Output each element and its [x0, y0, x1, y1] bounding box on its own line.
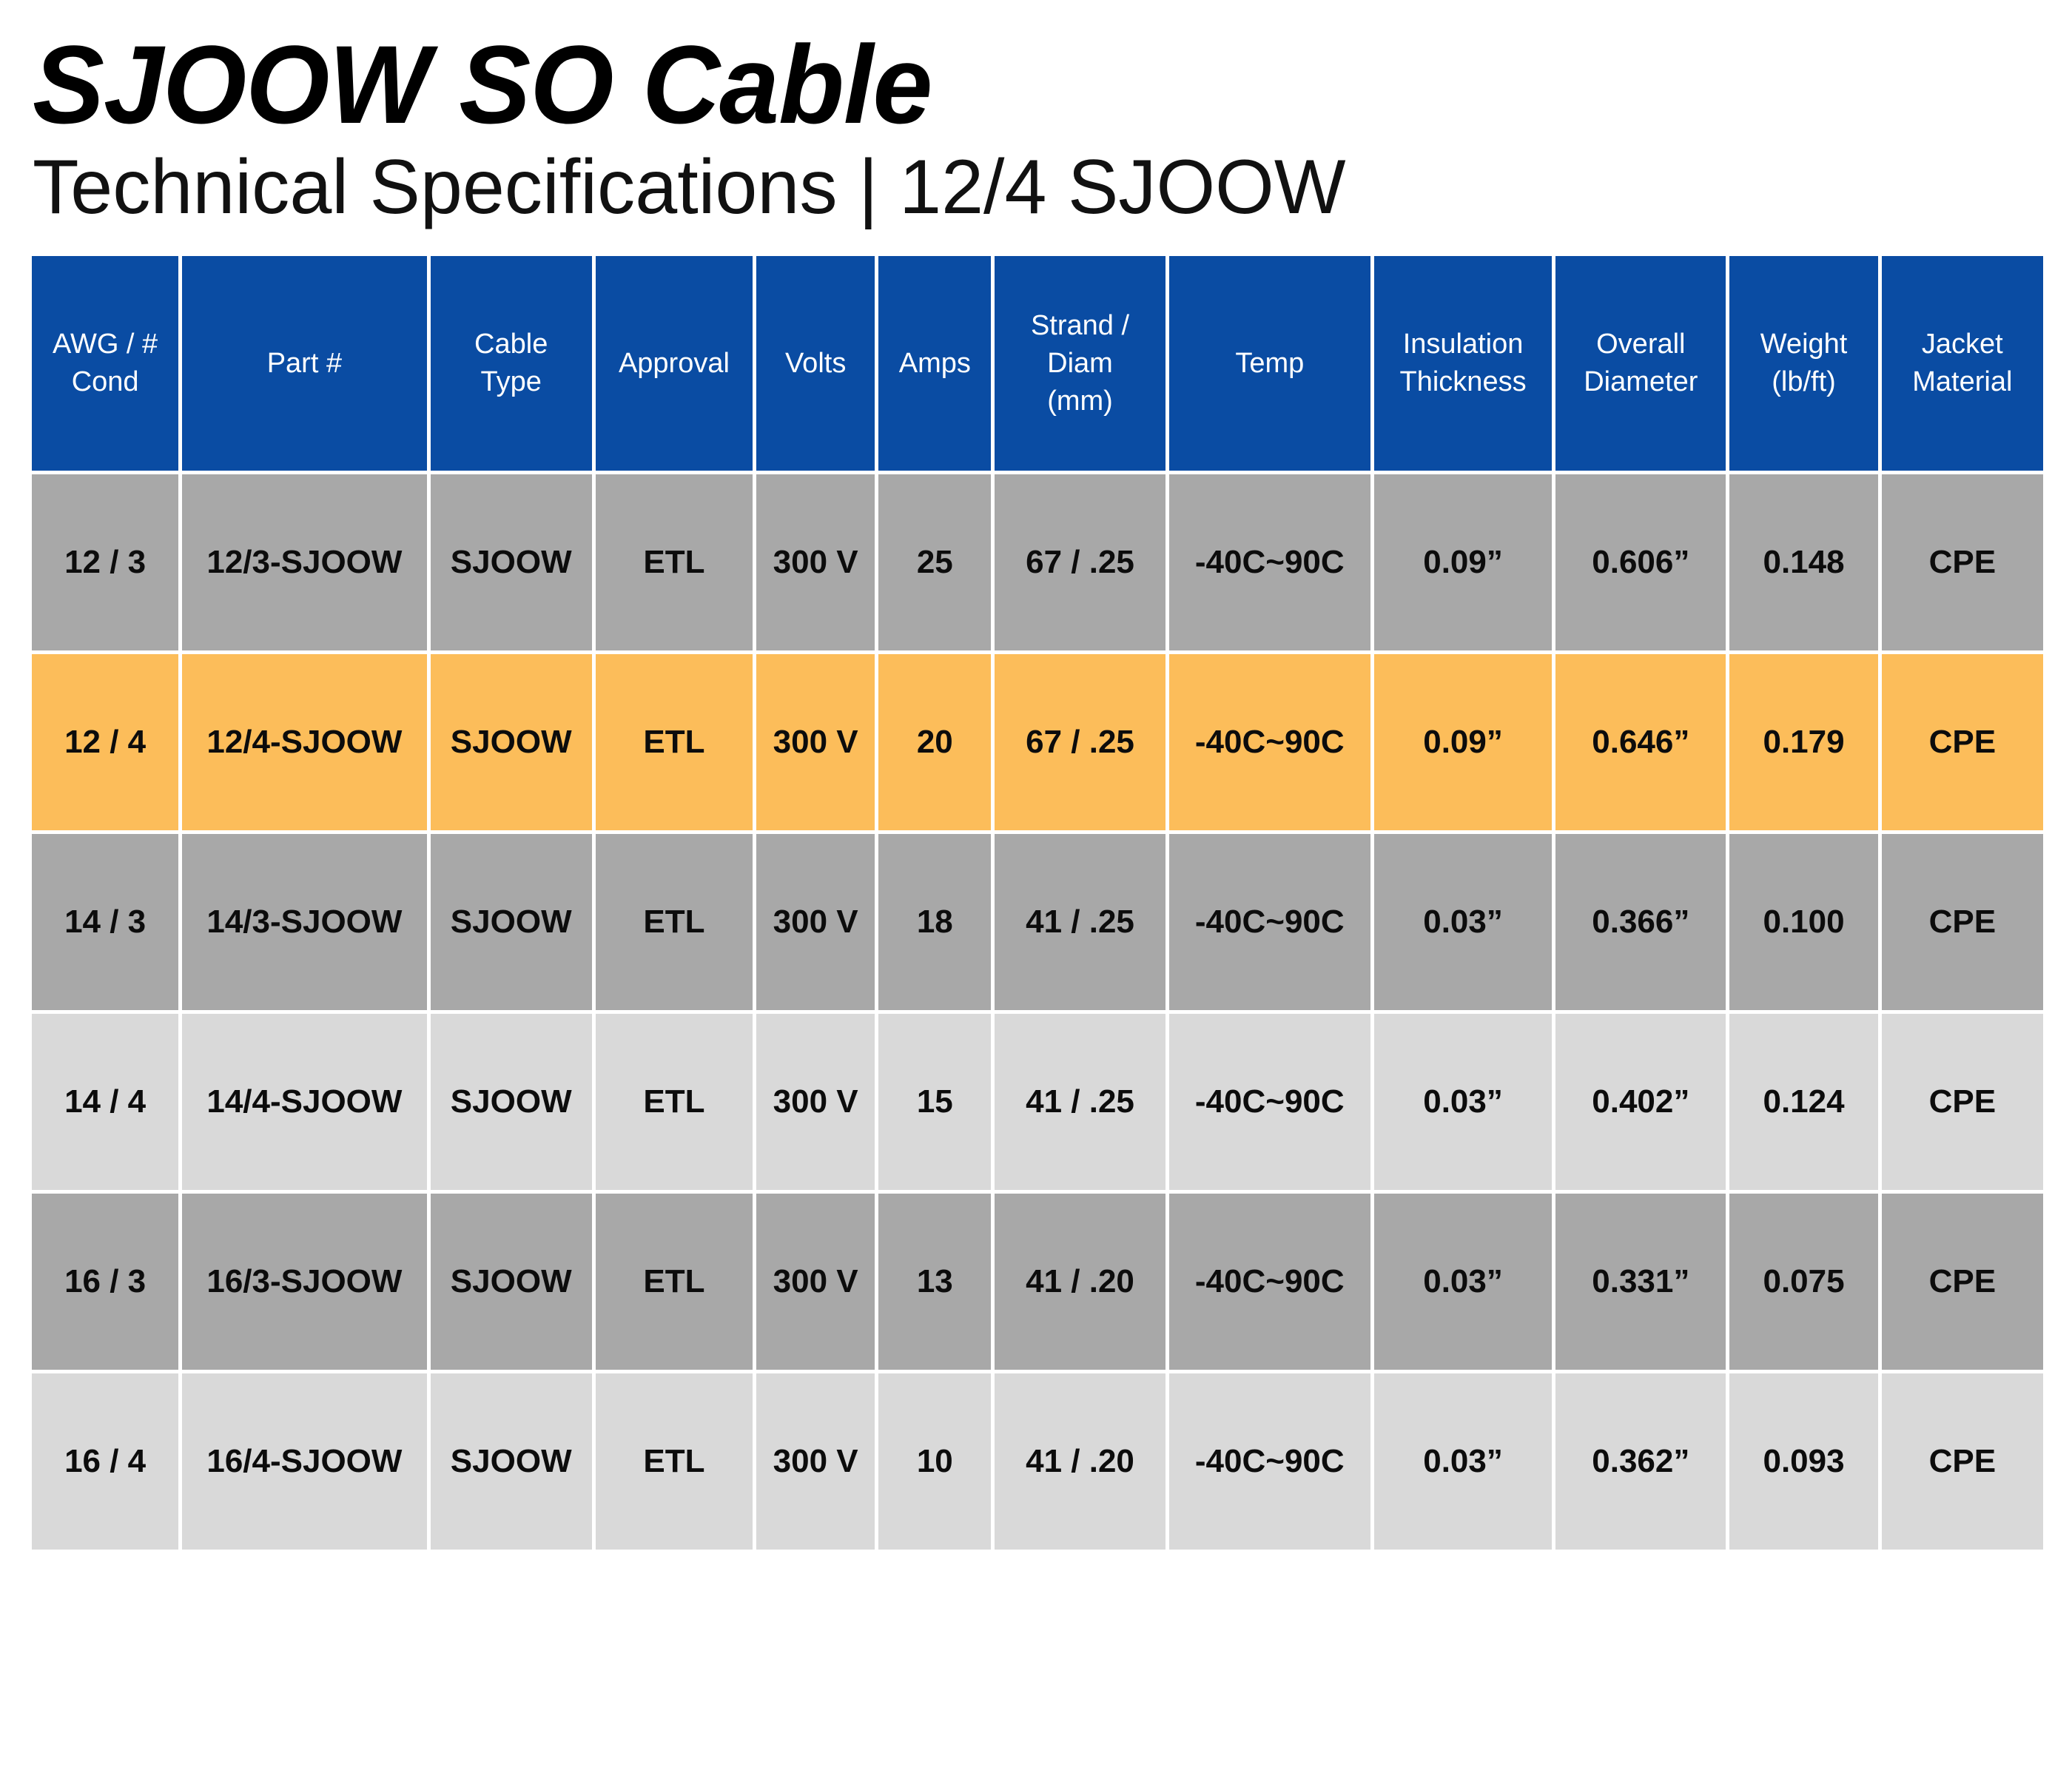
cell-overall-diameter: 0.331”	[1555, 1194, 1726, 1370]
cell-jacket-material: CPE	[1882, 1014, 2043, 1190]
column-header-cable-type: CableType	[431, 256, 592, 471]
cell-amps: 18	[878, 834, 991, 1010]
table-row: 16 / 416/4-SJOOWSJOOWETL300 V1041 / .20-…	[32, 1373, 2043, 1550]
column-header-temp: Temp	[1169, 256, 1370, 471]
cell-part-number: 12/3-SJOOW	[182, 474, 426, 650]
cell-approval: ETL	[596, 1194, 753, 1370]
cell-overall-diameter: 0.362”	[1555, 1373, 1726, 1550]
cell-strand-diam: 67 / .25	[995, 654, 1165, 830]
header-line: (mm)	[1047, 386, 1113, 417]
cell-awg-cond: 14 / 4	[32, 1014, 178, 1190]
table-row: 12 / 312/3-SJOOWSJOOWETL300 V2567 / .25-…	[32, 474, 2043, 650]
cell-temp: -40C~90C	[1169, 1194, 1370, 1370]
table-row: 14 / 314/3-SJOOWSJOOWETL300 V1841 / .25-…	[32, 834, 2043, 1010]
table-header: AWG / #Cond Part # CableType Approval Vo…	[32, 256, 2043, 471]
header-line: Temp	[1235, 348, 1304, 379]
cell-temp: -40C~90C	[1169, 474, 1370, 650]
cell-part-number: 12/4-SJOOW	[182, 654, 426, 830]
cell-awg-cond: 16 / 3	[32, 1194, 178, 1370]
cell-insulation-thickness: 0.09”	[1374, 654, 1552, 830]
table-body: 12 / 312/3-SJOOWSJOOWETL300 V2567 / .25-…	[32, 474, 2043, 1550]
header-line: Thickness	[1400, 366, 1527, 397]
header-line: Diameter	[1584, 366, 1698, 397]
column-header-strand-diam: Strand /Diam(mm)	[995, 256, 1165, 471]
cell-awg-cond: 16 / 4	[32, 1373, 178, 1550]
header-line: Insulation	[1403, 329, 1524, 360]
cell-insulation-thickness: 0.09”	[1374, 474, 1552, 650]
cell-weight: 0.100	[1729, 834, 1877, 1010]
cell-overall-diameter: 0.646”	[1555, 654, 1726, 830]
cell-jacket-material: CPE	[1882, 654, 2043, 830]
cell-jacket-material: CPE	[1882, 834, 2043, 1010]
column-header-approval: Approval	[596, 256, 753, 471]
cell-insulation-thickness: 0.03”	[1374, 1373, 1552, 1550]
cell-awg-cond: 12 / 3	[32, 474, 178, 650]
cell-part-number: 16/4-SJOOW	[182, 1373, 426, 1550]
cell-cable-type: SJOOW	[431, 1373, 592, 1550]
cell-amps: 13	[878, 1194, 991, 1370]
header-line: Strand /	[1031, 310, 1129, 341]
table-row-highlighted: 12 / 412/4-SJOOWSJOOWETL300 V2067 / .25-…	[32, 654, 2043, 830]
cell-temp: -40C~90C	[1169, 1014, 1370, 1190]
cell-awg-cond: 14 / 3	[32, 834, 178, 1010]
column-header-insulation-thickness: InsulationThickness	[1374, 256, 1552, 471]
cell-weight: 0.075	[1729, 1194, 1877, 1370]
cell-cable-type: SJOOW	[431, 474, 592, 650]
cell-part-number: 14/3-SJOOW	[182, 834, 426, 1010]
column-header-overall-diameter: OverallDiameter	[1555, 256, 1726, 471]
cell-overall-diameter: 0.402”	[1555, 1014, 1726, 1190]
cell-approval: ETL	[596, 1014, 753, 1190]
header-line: Diam	[1047, 348, 1113, 379]
header-line: Amps	[899, 348, 971, 379]
header-line: Material	[1912, 366, 2012, 397]
header-row: AWG / #Cond Part # CableType Approval Vo…	[32, 256, 2043, 471]
page-title: SJOOW SO Cable	[33, 28, 2011, 141]
cell-awg-cond: 12 / 4	[32, 654, 178, 830]
table-row: 14 / 414/4-SJOOWSJOOWETL300 V1541 / .25-…	[32, 1014, 2043, 1190]
header-line: (lb/ft)	[1772, 366, 1836, 397]
header-line: Jacket	[1922, 329, 2003, 360]
cell-approval: ETL	[596, 474, 753, 650]
cell-approval: ETL	[596, 654, 753, 830]
spec-table-container: AWG / #Cond Part # CableType Approval Vo…	[28, 252, 2047, 1553]
cell-cable-type: SJOOW	[431, 1014, 592, 1190]
cell-weight: 0.148	[1729, 474, 1877, 650]
cell-volts: 300 V	[756, 834, 875, 1010]
cell-insulation-thickness: 0.03”	[1374, 834, 1552, 1010]
cell-strand-diam: 41 / .25	[995, 834, 1165, 1010]
column-header-awg-cond: AWG / #Cond	[32, 256, 178, 471]
cell-volts: 300 V	[756, 1194, 875, 1370]
cell-amps: 15	[878, 1014, 991, 1190]
cell-cable-type: SJOOW	[431, 1194, 592, 1370]
header-line: Weight	[1760, 329, 1848, 360]
cell-part-number: 14/4-SJOOW	[182, 1014, 426, 1190]
cell-approval: ETL	[596, 834, 753, 1010]
column-header-jacket-material: JacketMaterial	[1882, 256, 2043, 471]
header-line: Volts	[785, 348, 846, 379]
cell-overall-diameter: 0.606”	[1555, 474, 1726, 650]
cell-insulation-thickness: 0.03”	[1374, 1014, 1552, 1190]
cell-temp: -40C~90C	[1169, 1373, 1370, 1550]
cell-approval: ETL	[596, 1373, 753, 1550]
cell-volts: 300 V	[756, 1373, 875, 1550]
cell-part-number: 16/3-SJOOW	[182, 1194, 426, 1370]
cell-strand-diam: 41 / .20	[995, 1194, 1165, 1370]
cell-temp: -40C~90C	[1169, 654, 1370, 830]
cell-weight: 0.124	[1729, 1014, 1877, 1190]
column-header-part-number: Part #	[182, 256, 426, 471]
cell-volts: 300 V	[756, 1014, 875, 1190]
cell-weight: 0.093	[1729, 1373, 1877, 1550]
header-line: Part #	[267, 348, 342, 379]
header-line: Overall	[1596, 329, 1685, 360]
cell-amps: 25	[878, 474, 991, 650]
cell-jacket-material: CPE	[1882, 474, 2043, 650]
column-header-volts: Volts	[756, 256, 875, 471]
cell-amps: 10	[878, 1373, 991, 1550]
cell-overall-diameter: 0.366”	[1555, 834, 1726, 1010]
cell-cable-type: SJOOW	[431, 834, 592, 1010]
header-line: Cable	[474, 329, 548, 360]
spec-table: AWG / #Cond Part # CableType Approval Vo…	[28, 252, 2047, 1553]
column-header-amps: Amps	[878, 256, 991, 471]
title-block: SJOOW SO Cable Technical Specifications …	[0, 0, 2072, 230]
cell-strand-diam: 41 / .20	[995, 1373, 1165, 1550]
header-line: Cond	[72, 366, 139, 397]
cell-weight: 0.179	[1729, 654, 1877, 830]
cell-jacket-material: CPE	[1882, 1373, 2043, 1550]
cell-temp: -40C~90C	[1169, 834, 1370, 1010]
header-line: AWG / #	[53, 329, 158, 360]
specification-sheet: SJOOW SO Cable Technical Specifications …	[0, 0, 2072, 1776]
cell-amps: 20	[878, 654, 991, 830]
cell-strand-diam: 41 / .25	[995, 1014, 1165, 1190]
cell-jacket-material: CPE	[1882, 1194, 2043, 1370]
header-line: Type	[481, 366, 542, 397]
column-header-weight: Weight(lb/ft)	[1729, 256, 1877, 471]
cell-volts: 300 V	[756, 474, 875, 650]
page-subtitle: Technical Specifications | 12/4 SJOOW	[33, 144, 2042, 230]
cell-cable-type: SJOOW	[431, 654, 592, 830]
cell-strand-diam: 67 / .25	[995, 474, 1165, 650]
cell-insulation-thickness: 0.03”	[1374, 1194, 1552, 1370]
table-row: 16 / 316/3-SJOOWSJOOWETL300 V1341 / .20-…	[32, 1194, 2043, 1370]
cell-volts: 300 V	[756, 654, 875, 830]
header-line: Approval	[619, 348, 730, 379]
